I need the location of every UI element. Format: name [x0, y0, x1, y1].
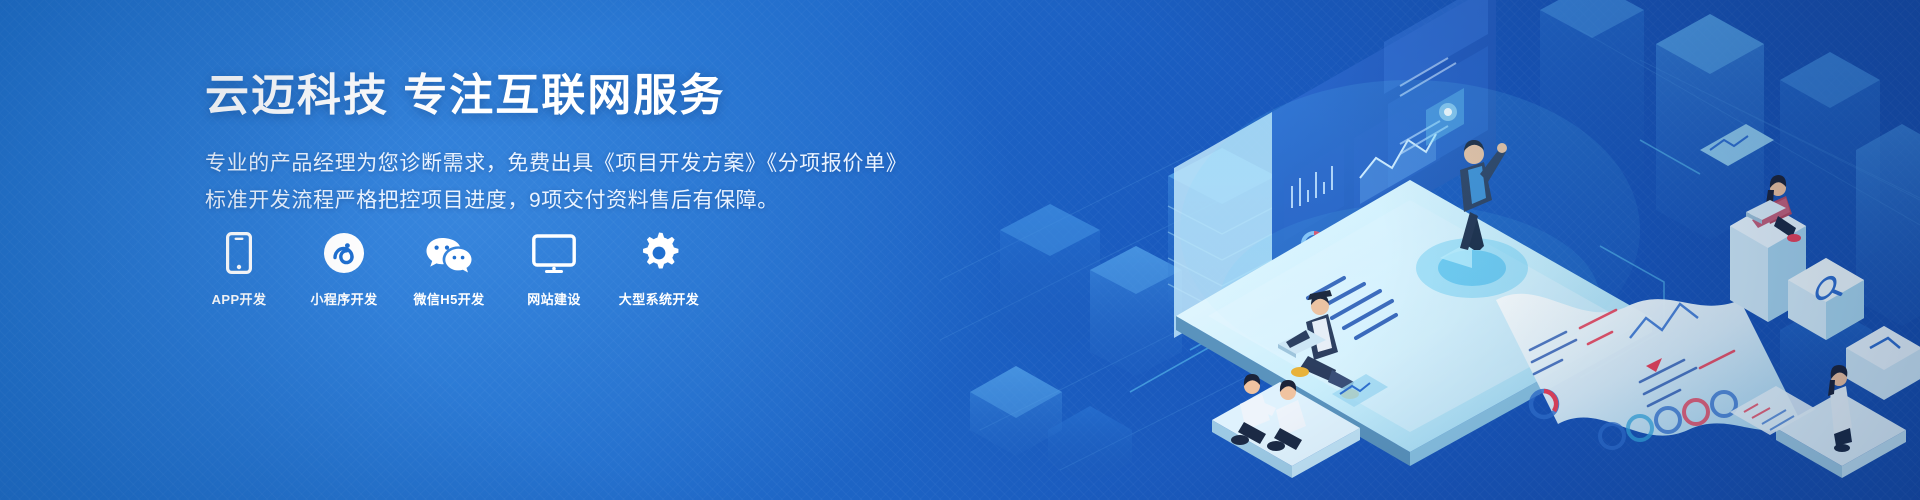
subtitle-line-2: 标准开发流程严格把控项目进度，9项交付资料售后有保障。 [205, 182, 905, 219]
service-label: 小程序开发 [310, 289, 377, 308]
wechat-icon [425, 228, 473, 274]
promo-banner: 云迈科技 专注互联网服务 专业的产品经理为您诊断需求，免费出具《项目开发方案》《… [0, 0, 1920, 500]
subtitle-line-1: 专业的产品经理为您诊断需求，免费出具《项目开发方案》《分项报价单》 [205, 145, 905, 182]
service-item-miniprogram[interactable]: 小程序开发 [308, 228, 380, 308]
service-item-website[interactable]: 网站建设 [518, 228, 590, 308]
service-item-system[interactable]: 大型系统开发 [623, 228, 695, 308]
mobile-phone-icon [226, 228, 252, 274]
banner-subtitle: 专业的产品经理为您诊断需求，免费出具《项目开发方案》《分项报价单》 标准开发流程… [205, 145, 905, 220]
service-item-wechat[interactable]: 微信H5开发 [413, 228, 485, 308]
service-label: 网站建设 [527, 289, 581, 308]
gear-icon [638, 228, 680, 274]
service-icon-row: APP开发 小程序开发 [203, 228, 695, 308]
page-title: 云迈科技 专注互联网服务 [205, 68, 905, 123]
service-item-app[interactable]: APP开发 [203, 228, 275, 308]
service-label: APP开发 [212, 289, 267, 308]
service-label: 微信H5开发 [413, 289, 484, 308]
banner-copy: 云迈科技 专注互联网服务 专业的产品经理为您诊断需求，免费出具《项目开发方案》《… [205, 68, 905, 220]
isometric-illustration [940, 0, 1920, 500]
service-label: 大型系统开发 [619, 289, 699, 308]
mini-program-icon [323, 228, 365, 274]
monitor-icon [532, 228, 576, 274]
